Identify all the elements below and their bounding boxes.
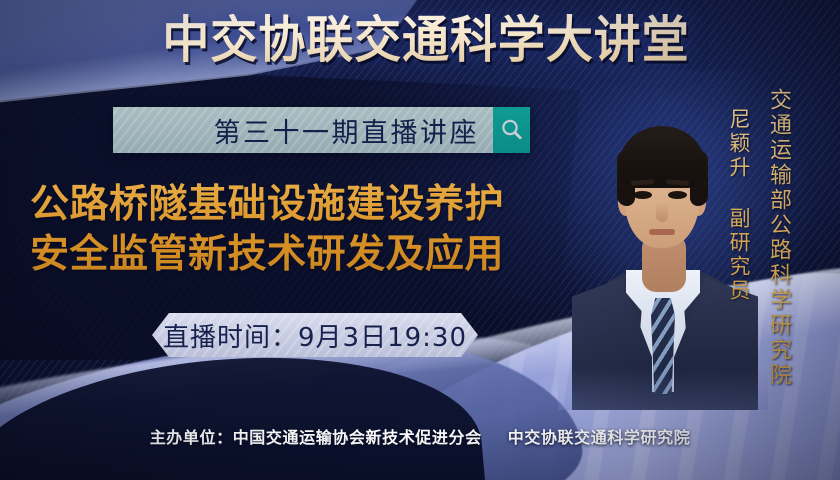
speaker-bottom-fade — [558, 340, 768, 410]
page-title: 中交协联交通科学大讲堂 — [153, 14, 698, 67]
livestream-poster: 中交协联交通科学大讲堂 第三十一期直播讲座 公路桥隧基础设施建设养护 安全监管新… — [0, 0, 840, 480]
episode-field[interactable]: 第三十一期直播讲座 — [113, 107, 493, 153]
speaker-name-title: 尼颖升 副研究员 — [724, 108, 754, 303]
broadcast-time-badge: 直播时间：9月3日19:30 — [152, 313, 478, 357]
episode-search-bar[interactable]: 第三十一期直播讲座 — [113, 107, 530, 153]
speaker-hair-top — [619, 126, 705, 188]
lecture-headline-line-1: 公路桥隧基础设施建设养护 — [30, 180, 590, 230]
search-icon — [499, 117, 525, 143]
speaker-nose — [656, 202, 668, 222]
footer-organizers: 主办单位：中国交通运输协会新技术促进分会中交协联交通科学研究院 — [0, 424, 840, 448]
footer-organizer-label: 主办单位：中国交通运输协会新技术促进分会 — [150, 428, 482, 447]
lecture-headline: 公路桥隧基础设施建设养护 安全监管新技术研发及应用 — [30, 180, 590, 280]
speaker-eye-left — [633, 191, 652, 199]
speaker-mouth — [649, 229, 675, 235]
speaker-portrait — [578, 92, 746, 392]
lecture-headline-line-2: 安全监管新技术研发及应用 — [30, 230, 590, 280]
speaker-organization: 交通运输部公路科学研究院 — [762, 88, 794, 388]
speaker-eye-right — [668, 191, 687, 199]
footer-co-organizer: 中交协联交通科学研究院 — [508, 428, 691, 447]
episode-label: 第三十一期直播讲座 — [214, 111, 480, 150]
broadcast-time-text: 直播时间：9月3日19:30 — [163, 317, 467, 354]
search-button[interactable] — [493, 107, 530, 153]
